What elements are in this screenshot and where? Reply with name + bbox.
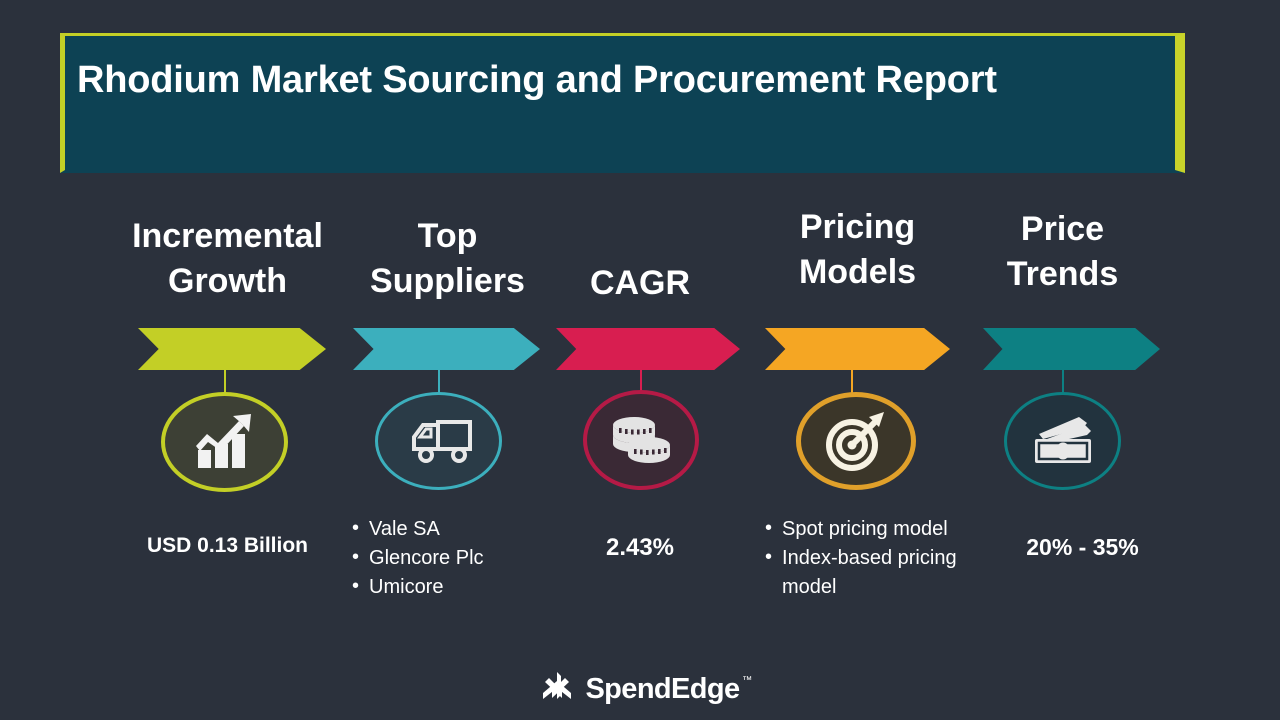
banner-cagr — [556, 328, 740, 370]
value-incremental-growth: USD 0.13 Billion — [100, 534, 355, 558]
list-item: • Umicore — [352, 573, 562, 602]
bullet-glyph: • — [352, 544, 359, 571]
trademark-symbol: ™ — [742, 675, 751, 686]
value-cagr: 2.43% — [545, 534, 735, 562]
list-item-label: Spot pricing model — [782, 515, 948, 544]
column-heading-top-suppliers: Top Suppliers — [340, 214, 555, 304]
title-panel: Rhodium Market Sourcing and Procurement … — [60, 33, 1185, 173]
column-heading-incremental-growth: Incremental Growth — [100, 214, 355, 304]
list-item: • Vale SA — [352, 515, 562, 544]
banknote-icon — [1029, 415, 1097, 467]
column-heading-price-trends: Price Trends — [985, 207, 1140, 297]
list-item-label: Index-based pricing model — [782, 544, 995, 602]
delivery-truck-icon — [404, 417, 474, 465]
list-item: • Index-based pricing model — [765, 544, 995, 602]
bullet-list-pricing-models: • Spot pricing model • Index-based prici… — [765, 515, 995, 602]
growth-chart-icon — [194, 414, 256, 470]
list-item-label: Umicore — [369, 573, 443, 602]
value-price-trends: 20% - 35% — [975, 534, 1190, 561]
list-item: • Glencore Plc — [352, 544, 562, 573]
bullet-glyph: • — [352, 573, 359, 600]
icon-circle-cagr — [583, 390, 699, 490]
bullet-glyph: • — [765, 544, 772, 571]
banner-incremental-growth — [138, 328, 326, 370]
list-item-label: Glencore Plc — [369, 544, 484, 573]
page-title: Rhodium Market Sourcing and Procurement … — [77, 50, 1107, 112]
icon-circle-pricing-models — [796, 392, 916, 490]
brand-wordmark: SpendEdge ™ — [585, 673, 739, 706]
banner-top-suppliers — [353, 328, 540, 370]
footer-brand: SpendEdge ™ — [0, 671, 1280, 708]
bullet-glyph: • — [765, 515, 772, 542]
target-arrow-icon — [824, 411, 888, 471]
banner-price-trends — [983, 328, 1160, 370]
list-item: • Spot pricing model — [765, 515, 995, 544]
list-item-label: Vale SA — [369, 515, 440, 544]
column-heading-cagr: CAGR — [545, 261, 735, 306]
column-heading-pricing-models: Pricing Models — [755, 205, 960, 295]
spendedge-chevron-logo-icon — [540, 671, 574, 708]
icon-circle-top-suppliers — [375, 392, 502, 490]
bullet-glyph: • — [352, 515, 359, 542]
brand-name: SpendEdge — [585, 673, 739, 705]
icon-circle-price-trends — [1004, 392, 1121, 490]
coins-stack-icon — [608, 412, 674, 468]
banner-pricing-models — [765, 328, 950, 370]
icon-circle-incremental-growth — [161, 392, 288, 492]
bullet-list-top-suppliers: • Vale SA • Glencore Plc • Umicore — [352, 515, 562, 602]
